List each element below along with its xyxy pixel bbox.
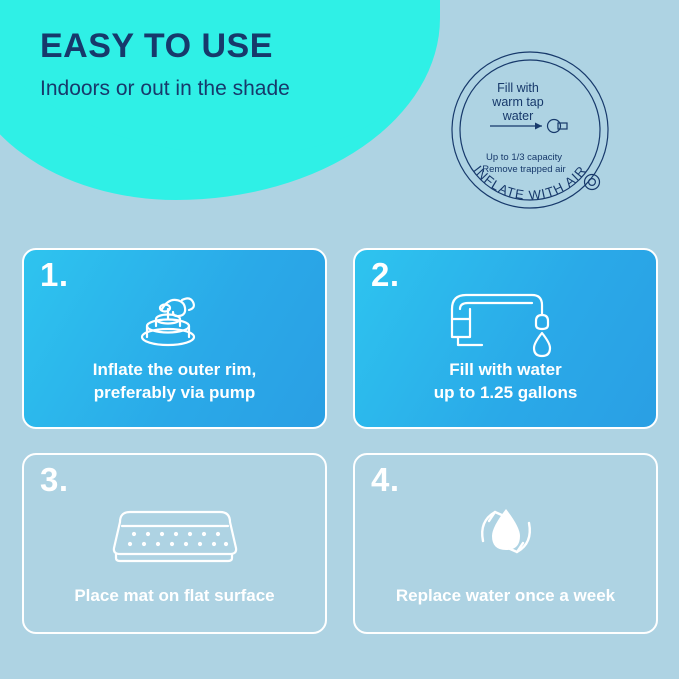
badge-arrow-head [535, 123, 542, 130]
page-title: EASY TO USE [40, 28, 290, 65]
faucet-water-drop-icon [355, 276, 656, 360]
air-pump-icon [24, 276, 325, 360]
step-card-3[interactable]: 3. Place mat on flat surface [22, 453, 327, 634]
badge-line2: warm tap [491, 95, 543, 109]
badge-note1: Up to 1/3 capacity [486, 152, 562, 163]
headline-block: EASY TO USE Indoors or out in the shade [40, 28, 290, 100]
mat-icon [24, 489, 325, 575]
step-text-1: Inflate the outer rim, preferably via pu… [24, 359, 325, 405]
page-subtitle: Indoors or out in the shade [40, 77, 290, 100]
step-card-1[interactable]: 1. Inflate the outer rim, preferably via… [22, 248, 327, 429]
water-drop-recycle-icon [355, 489, 656, 575]
badge-air-valve-inner [589, 179, 596, 186]
step-text-3: Place mat on flat surface [24, 585, 325, 608]
badge-note2: Remove trapped air [482, 164, 565, 175]
badge-line3: water [502, 109, 534, 123]
step-card-2[interactable]: 2. Fill with water up to 1.25 gallons [353, 248, 658, 429]
steps-grid: 1. Inflate the outer rim, preferably via… [22, 248, 658, 634]
badge-graphic: Fill with warm tap water Up to 1/3 capac… [440, 42, 620, 222]
step-card-4[interactable]: 4. Replace water once a week [353, 453, 658, 634]
step-text-2: Fill with water up to 1.25 gallons [355, 359, 656, 405]
badge-valve-stem [558, 123, 567, 129]
instruction-badge: Fill with warm tap water Up to 1/3 capac… [440, 42, 620, 222]
step-text-4: Replace water once a week [355, 585, 656, 608]
badge-line1: Fill with [497, 81, 539, 95]
